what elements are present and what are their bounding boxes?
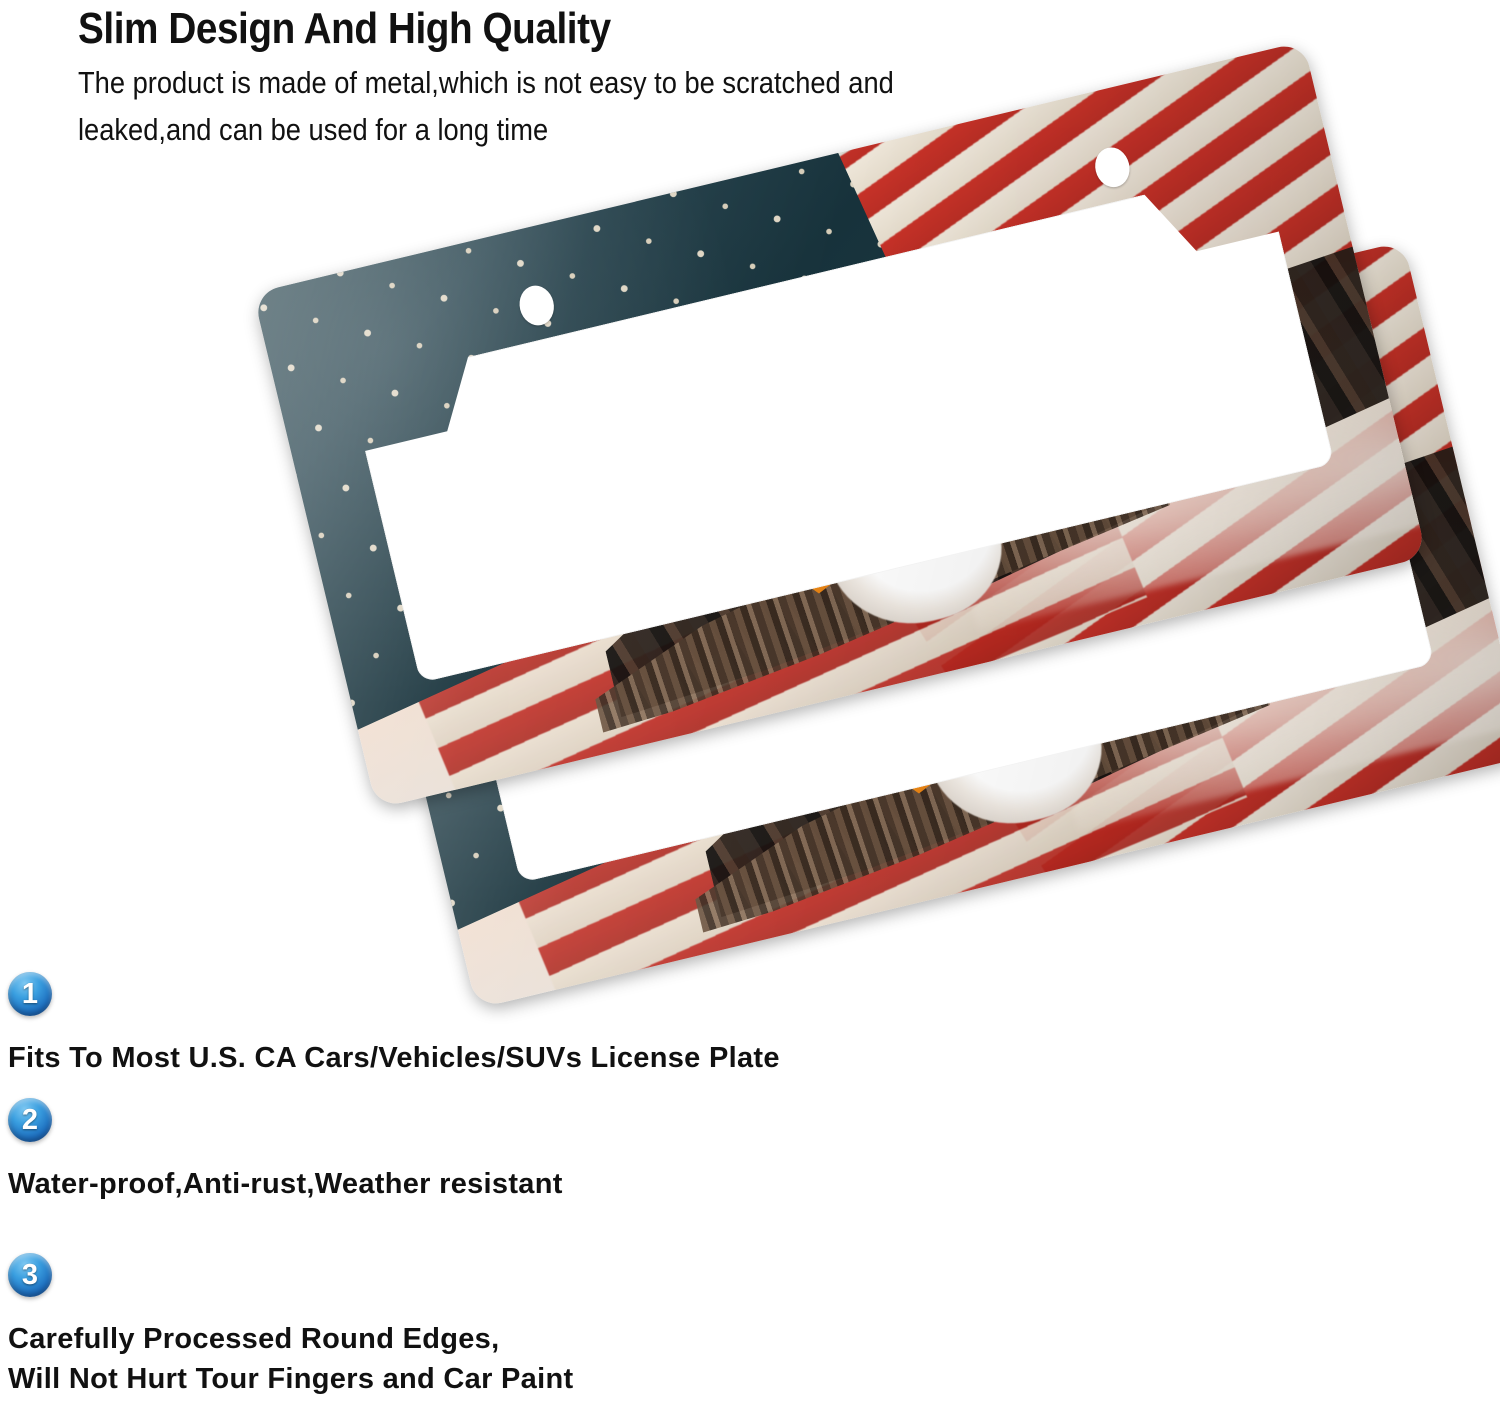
feature-item-3: 3 Carefully Processed Round Edges, Will … [8, 1253, 573, 1399]
feature-item-2: 2 Water-proof,Anti-rust,Weather resistan… [8, 1098, 563, 1204]
product-image [0, 150, 1500, 1010]
feature-text-1: Fits To Most U.S. CA Cars/Vehicles/SUVs … [8, 1038, 780, 1078]
feature-text-3: Carefully Processed Round Edges, Will No… [8, 1319, 573, 1399]
number-badge-1: 1 [8, 972, 52, 1016]
number-badge-3: 3 [8, 1253, 52, 1297]
feature-item-1: 1 Fits To Most U.S. CA Cars/Vehicles/SUV… [8, 972, 780, 1078]
feature-text-2: Water-proof,Anti-rust,Weather resistant [8, 1164, 563, 1204]
header-subtitle-line-1: The product is made of metal,which is no… [78, 60, 1046, 107]
page-title: Slim Design And High Quality [78, 6, 1046, 52]
number-badge-2: 2 [8, 1098, 52, 1142]
